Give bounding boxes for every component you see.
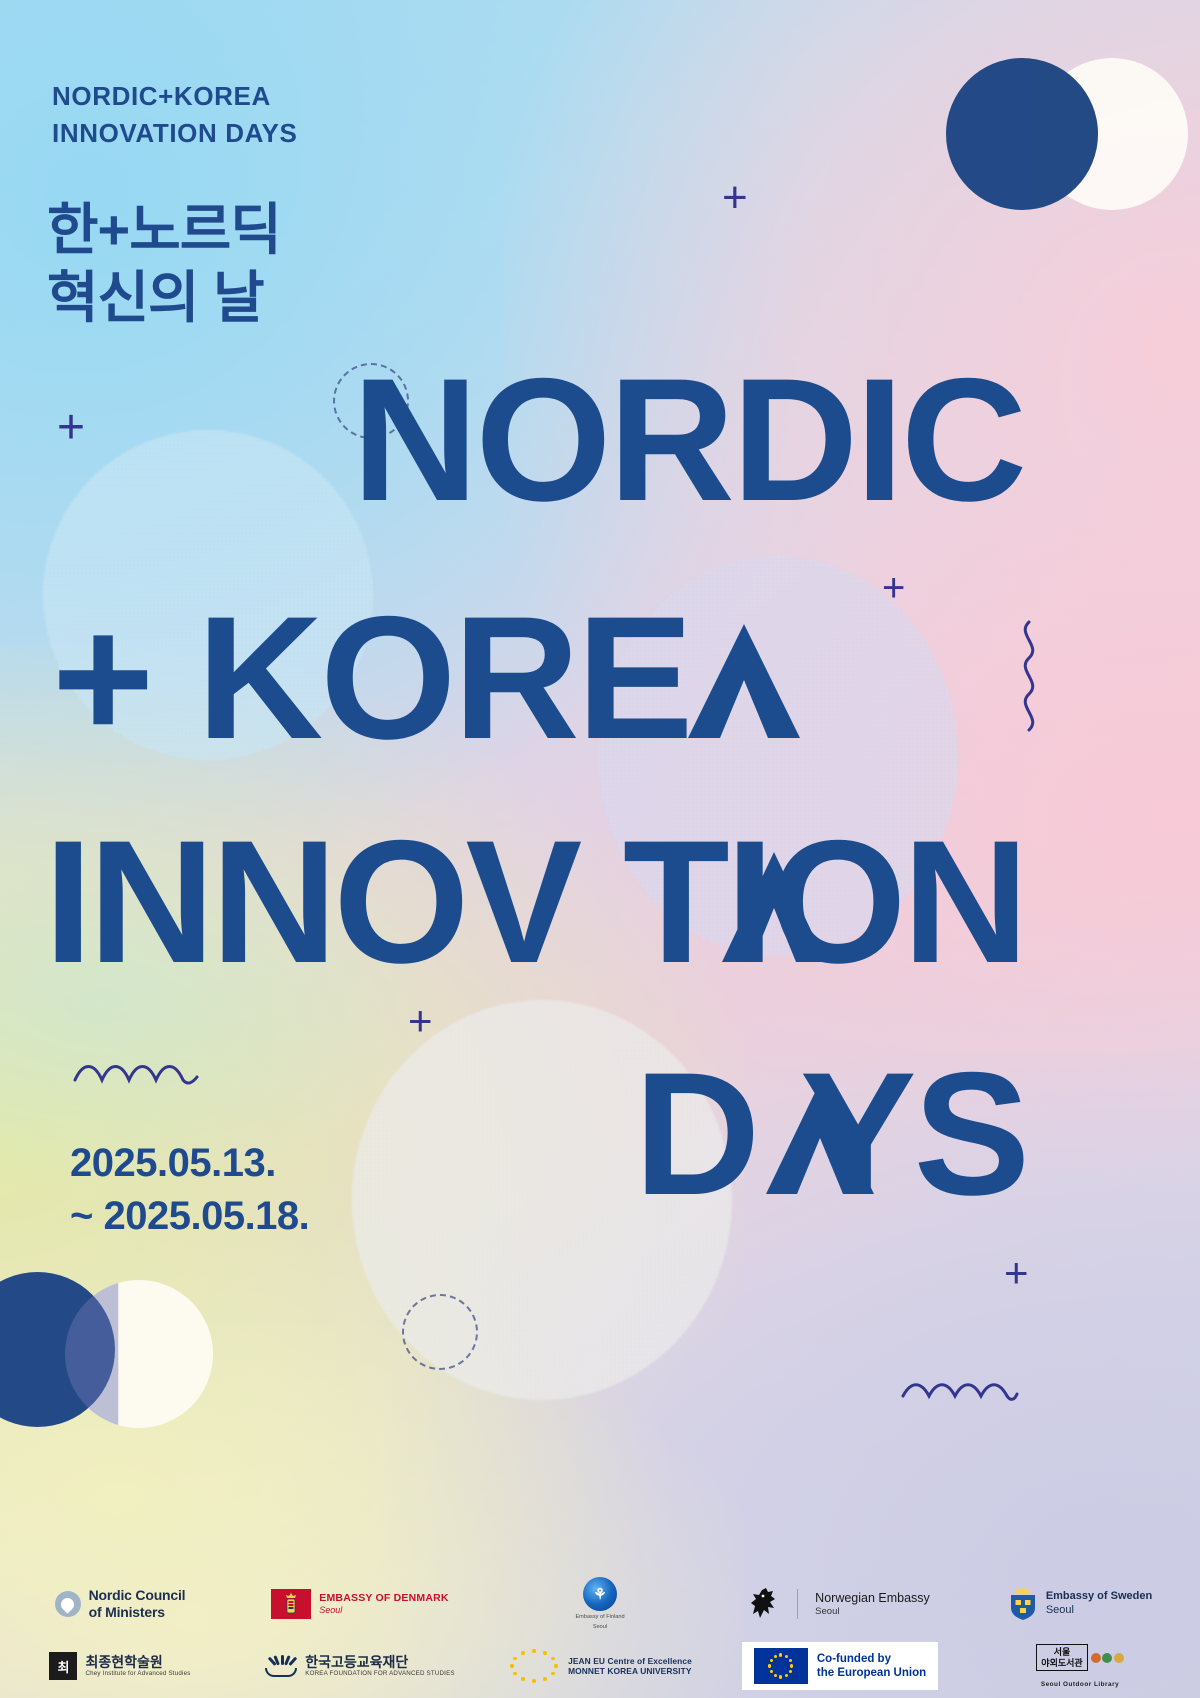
logo-label-primary: Embassy of Finland [575,1614,624,1621]
kfas-book-icon [265,1655,297,1677]
plus-icon-1: + [722,176,748,220]
headline-line-days: D YS [634,1058,1114,1228]
logo-embassy-finland[interactable]: ⚘ Embassy of Finland Seoul [480,1577,720,1632]
logo-label-secondary: the European Union [817,1666,926,1680]
korean-title-line-2: 혁신의 날 [47,264,281,332]
event-dates: 2025.05.13. ~ 2025.05.18. [70,1137,309,1243]
logo-label-primary: 최종현학술원 [85,1655,190,1670]
logo-label-primary: Co-funded by [817,1652,926,1666]
wavy-line-icon-bottom [900,1378,1020,1411]
jean-monnet-stars-icon [508,1648,560,1684]
headline-line-korea: + KORE [52,602,812,772]
logo-label-secondary: KOREA FOUNDATION FOR ADVANCED STUDIES [305,1670,455,1677]
svg-text:+ KORE: + KORE [52,581,690,776]
svg-text:INNOV TION: INNOV TION [44,805,1025,1000]
sweden-three-crowns-icon [1008,1586,1038,1622]
logo-label-primary: JEAN EU Centre of Excellence [568,1656,692,1666]
logo-label-secondary: Chey Institute for Advanced Studies [85,1670,190,1677]
event-date-end: ~ 2025.05.18. [70,1190,309,1243]
poster-canvas: + + + + + NORDIC+KOREA INNOVATION DAYS 한… [0,0,1200,1698]
logo-label-primary: Nordic Council [89,1587,186,1604]
logo-embassy-denmark[interactable]: EMBASSY OF DENMARK Seoul [240,1589,480,1619]
finland-lion-icon: ⚘ [583,1577,617,1611]
event-date-start: 2025.05.13. [70,1137,309,1190]
logo-co-funded-eu[interactable]: Co-funded by the European Union [720,1642,960,1690]
logo-jean-monnet[interactable]: JEAN EU Centre of Excellence MONNET KORE… [480,1648,720,1684]
seoul-library-korean-mark: 서울 야외도서관 [1036,1644,1087,1671]
eyebrow-line-2: INNOVATION DAYS [52,115,297,152]
logo-label-primary: Embassy of Sweden [1046,1590,1152,1604]
nordic-council-swan-icon [55,1591,81,1617]
logo-divider [797,1589,798,1619]
logo-label-secondary: of Ministers [89,1604,186,1621]
logo-label-primary: EMBASSY OF DENMARK [319,1592,448,1605]
partner-logo-bar: Nordic Council of Ministers EMBASSY OF D… [0,1568,1200,1698]
logo-label-secondary: MONNET KOREA UNIVERSITY [568,1666,692,1676]
korean-title-line-1: 한+노르딕 [47,196,281,264]
logo-label-secondary: Seoul [1046,1604,1152,1618]
logo-label-secondary: Seoul [319,1605,448,1616]
logo-label-secondary: Seoul [815,1606,930,1618]
headline-line-innovation: INNOV TION [44,826,1154,996]
plus-icon-5: + [1004,1252,1029,1294]
norway-lion-icon [750,1587,780,1621]
seoul-library-dots-icon [1091,1653,1124,1663]
denmark-coat-of-arms-icon [271,1589,311,1619]
eyebrow-line-1: NORDIC+KOREA [52,78,297,115]
logo-chey-institute[interactable]: 최 최종현학술원 Chey Institute for Advanced Stu… [0,1652,240,1680]
logo-label-primary: 한국고등교육재단 [305,1655,455,1670]
headline-line-nordic: NORDIC [352,364,1092,534]
chey-institute-mark-icon: 최 [49,1652,77,1680]
logo-label-caption: Seoul Outdoor Library [1041,1681,1119,1688]
eyebrow-heading: NORDIC+KOREA INNOVATION DAYS [52,78,297,152]
korean-title: 한+노르딕 혁신의 날 [47,196,281,333]
logo-kfas[interactable]: 한국고등교육재단 KOREA FOUNDATION FOR ADVANCED S… [240,1655,480,1678]
logo-embassy-sweden[interactable]: Embassy of Sweden Seoul [960,1586,1200,1622]
svg-text:NORDIC: NORDIC [352,343,1024,538]
logo-norwegian-embassy[interactable]: Norwegian Embassy Seoul [720,1587,960,1621]
logo-label-secondary: 야외도서관 [1041,1658,1082,1668]
eu-flag-icon [754,1648,808,1684]
partner-logo-row-2: 최 최종현학술원 Chey Institute for Advanced Stu… [0,1640,1200,1692]
logo-seoul-outdoor-library[interactable]: 서울 야외도서관 Seoul Outdoor Library [960,1644,1200,1688]
dashed-circle-icon-lower [402,1294,478,1370]
logo-nordic-council[interactable]: Nordic Council of Ministers [0,1587,240,1621]
partner-logo-row-1: Nordic Council of Ministers EMBASSY OF D… [0,1576,1200,1632]
logo-label-primary: Norwegian Embassy [815,1591,930,1606]
hero-headline: NORDIC + KORE INNOV TION D YS [0,364,1200,1184]
logo-label-secondary: Seoul [593,1624,607,1631]
logo-label-primary: 서울 [1041,1647,1082,1657]
